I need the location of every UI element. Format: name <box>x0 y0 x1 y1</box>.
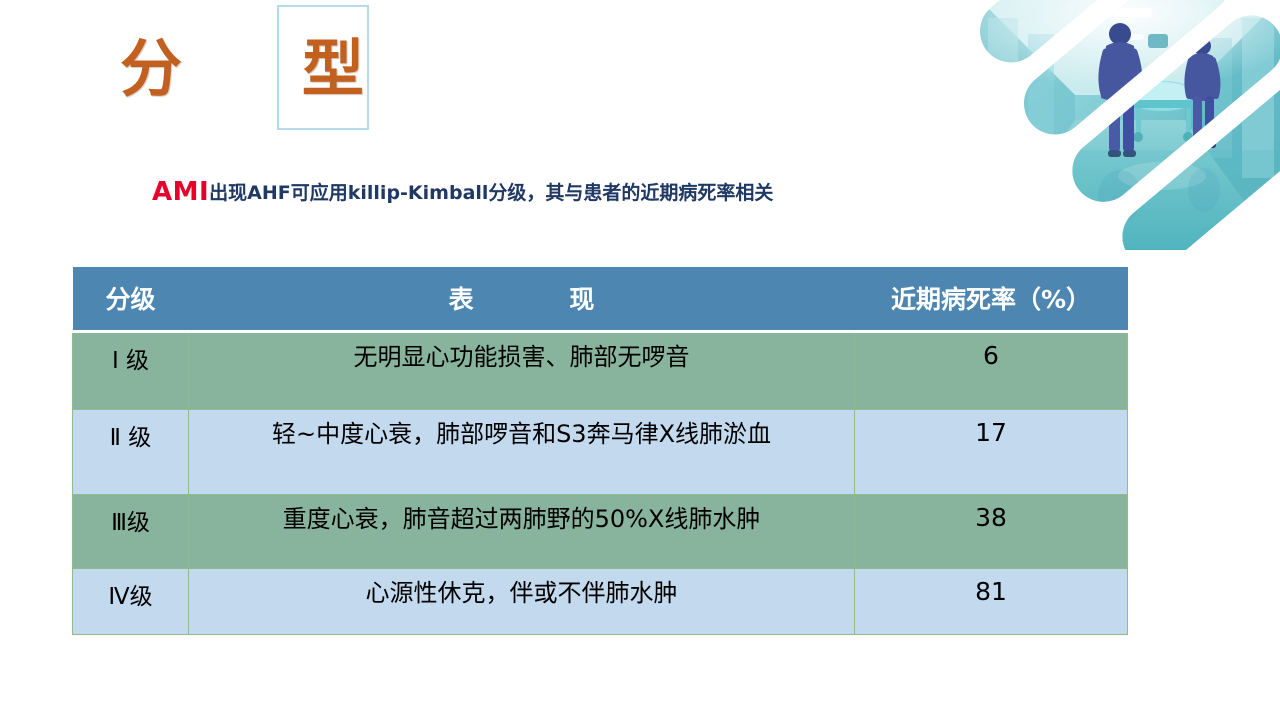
cell-mortality-rate: 17 <box>855 409 1128 494</box>
cell-description: 无明显心功能损害、肺部无啰音 <box>189 331 855 409</box>
hospital-corridor-decoration <box>980 0 1280 250</box>
page-title: 分 型 <box>120 24 420 114</box>
cell-mortality-rate: 81 <box>855 568 1128 634</box>
table-row: Ⅲ级 重度心衰，肺音超过两肺野的50%X线肺水肿 38 <box>73 494 1128 568</box>
slide-title-block: 分 型 <box>120 0 420 145</box>
table-row: Ⅰ 级 无明显心功能损害、肺部无啰音 6 <box>73 331 1128 409</box>
subtitle-lead-term: AMI <box>152 177 209 207</box>
gurney <box>1126 81 1198 142</box>
cell-grade: Ⅲ级 <box>73 494 189 568</box>
cell-grade: Ⅰ 级 <box>73 331 189 409</box>
cell-description: 轻~中度心衰，肺部啰音和S3奔马律X线肺淤血 <box>189 409 855 494</box>
corridor-photo-content <box>980 0 1280 250</box>
killip-kimball-table: 分级 表 现 近期病死率（%） Ⅰ 级 无明显心功能损害、肺部无啰音 6 Ⅱ 级… <box>72 267 1128 635</box>
cell-mortality-rate: 38 <box>855 494 1128 568</box>
cell-grade: Ⅳ级 <box>73 568 189 634</box>
column-header-mortality: 近期病死率（%） <box>855 267 1128 331</box>
table-row: Ⅳ级 心源性休克，伴或不伴肺水肿 81 <box>73 568 1128 634</box>
cell-mortality-rate: 6 <box>855 331 1128 409</box>
cell-grade: Ⅱ 级 <box>73 409 189 494</box>
subtitle-body-text: 出现AHF可应用killip-Kimball分级，其与患者的近期病死率相关 <box>209 182 773 204</box>
subtitle-paragraph: AMI出现AHF可应用killip-Kimball分级，其与患者的近期病死率相关 <box>152 178 912 207</box>
cell-description: 心源性休克，伴或不伴肺水肿 <box>189 568 855 634</box>
medical-staff-figure-left <box>1101 23 1139 157</box>
medical-staff-figure-right <box>1187 37 1217 148</box>
column-header-grade: 分级 <box>73 267 189 331</box>
table-header-row: 分级 表 现 近期病死率（%） <box>73 267 1128 331</box>
column-header-presentation: 表 现 <box>189 267 855 331</box>
table-row: Ⅱ 级 轻~中度心衰，肺部啰音和S3奔马律X线肺淤血 17 <box>73 409 1128 494</box>
cell-description: 重度心衰，肺音超过两肺野的50%X线肺水肿 <box>189 494 855 568</box>
